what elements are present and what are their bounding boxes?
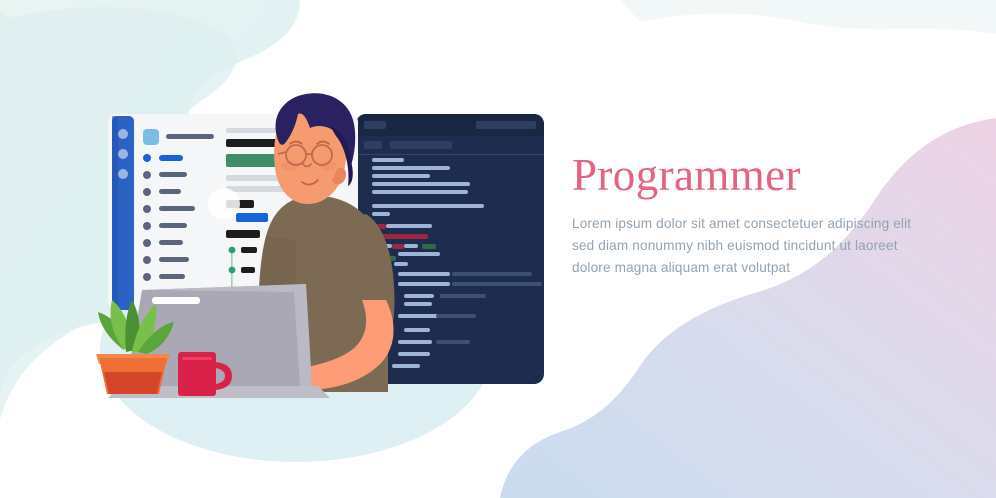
sidebar-dot: [118, 149, 128, 159]
sidebar-dot: [118, 129, 128, 139]
avatar: [143, 129, 159, 145]
paragraph-line: dolore magna aliquam erat volutpat: [572, 257, 952, 279]
page-title: Programmer: [572, 152, 952, 199]
laptop-screen-bar: [152, 297, 200, 304]
copy-block: Programmer Lorem ipsum dolor sit amet co…: [572, 152, 952, 279]
body-paragraph: Lorem ipsum dolor sit amet consectetuer …: [572, 213, 952, 279]
illustration-banner: Programmer Lorem ipsum dolor sit amet co…: [0, 0, 996, 498]
paragraph-line: Lorem ipsum dolor sit amet consectetuer …: [572, 213, 952, 235]
list-item: [143, 154, 183, 162]
blue-button: [236, 213, 268, 222]
paragraph-line: sed diam nonummy nibh euismod tincidunt …: [572, 235, 952, 257]
sidebar-dot: [118, 169, 128, 179]
